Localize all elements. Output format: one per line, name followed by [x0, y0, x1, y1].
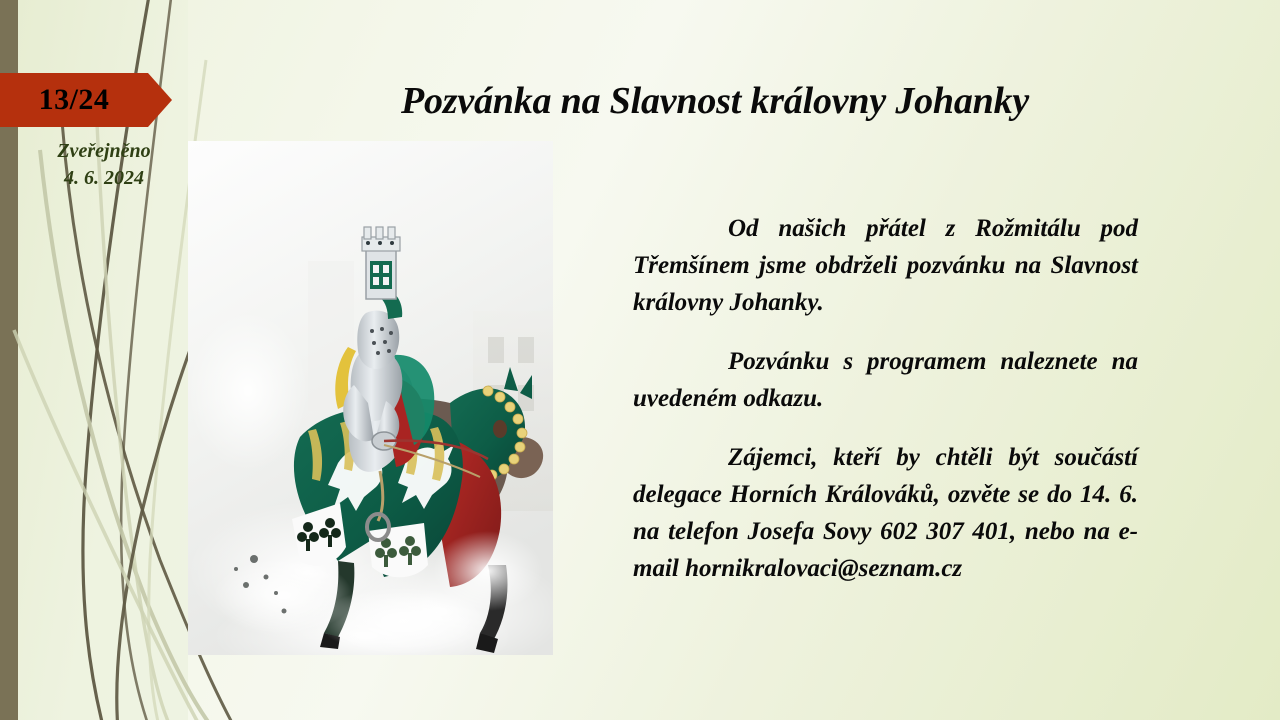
published-date: 4. 6. 2024: [20, 165, 188, 192]
published-label: Zveřejněno: [20, 138, 188, 165]
paragraph-2: Pozvánku s programem naleznete na uveden…: [633, 343, 1138, 417]
body-text: Od našich přátel z Rožmitálu pod Třemšín…: [633, 210, 1138, 587]
knight-on-horse-image: [188, 141, 553, 655]
slide: 13/24 Zveřejněno 4. 6. 2024 Pozvánka na …: [0, 0, 1280, 720]
page-title: Pozvánka na Slavnost královny Johanky: [210, 78, 1220, 124]
published-block: Zveřejněno 4. 6. 2024: [20, 138, 188, 192]
slide-counter-label: 13/24: [0, 73, 148, 127]
paragraph-3: Zájemci, kteří by chtěli být součástí de…: [633, 439, 1138, 587]
knight-illustration: [188, 141, 553, 655]
slide-counter-badge: 13/24: [0, 73, 172, 127]
paragraph-1: Od našich přátel z Rožmitálu pod Třemšín…: [633, 210, 1138, 321]
